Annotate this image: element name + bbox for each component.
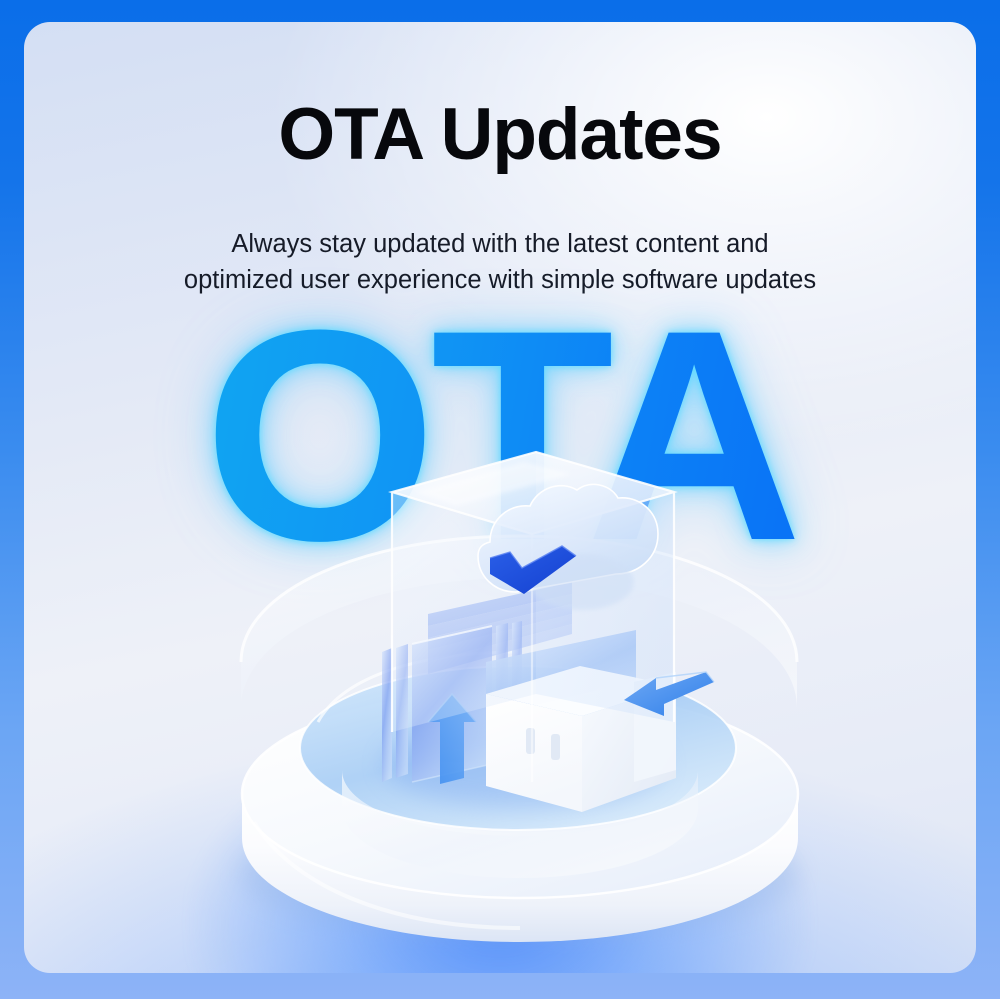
promo-card: OTA Updates Always stay updated with the… xyxy=(24,22,976,973)
ota-wordmark: OTA xyxy=(24,318,976,552)
promo-frame: OTA Updates Always stay updated with the… xyxy=(0,0,1000,999)
subtitle-line-1: Always stay updated with the latest cont… xyxy=(24,226,976,262)
left-arrow-icon xyxy=(624,672,714,716)
page-title: OTA Updates xyxy=(24,98,976,171)
floor-glow xyxy=(190,723,810,973)
